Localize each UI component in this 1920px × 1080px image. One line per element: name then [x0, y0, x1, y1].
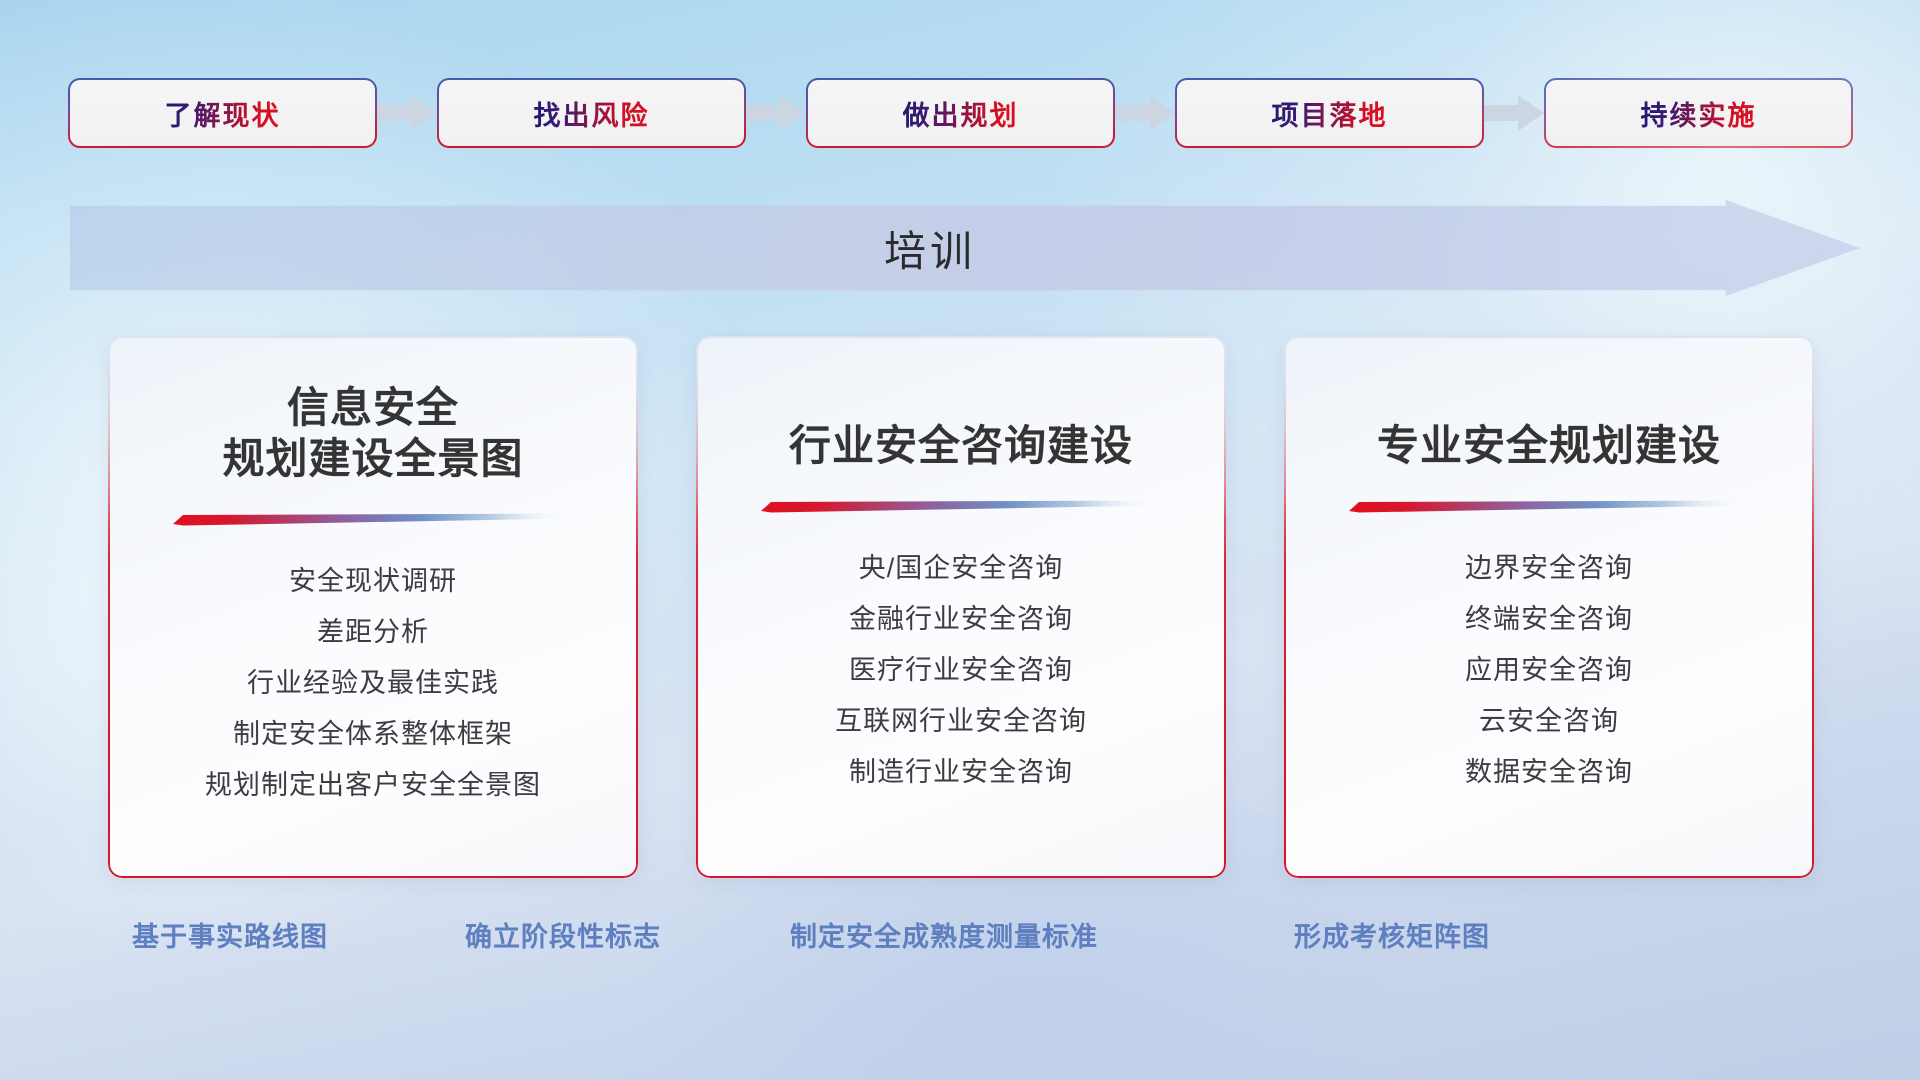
list-item: 金融行业安全咨询 [835, 594, 1087, 645]
right-arrow-icon [375, 94, 439, 132]
step-label: 做出规划 [903, 94, 1019, 133]
card-item-list: 央/国企安全咨询 金融行业安全咨询 医疗行业安全咨询 互联网行业安全咨询 制造行… [835, 543, 1087, 798]
card-row: 信息安全 规划建设全景图 安全现状调研 差距分析 行 [108, 336, 1814, 878]
step-label: 项目落地 [1272, 94, 1388, 133]
list-item: 数据安全咨询 [1465, 747, 1633, 798]
card-divider [761, 499, 1161, 513]
card-title: 信息安全 规划建设全景图 [222, 382, 523, 484]
training-banner: 培训 [70, 200, 1860, 296]
list-item: 制定安全体系整体框架 [205, 709, 541, 760]
card-3[interactable]: 专业安全规划建设 边界安全咨询 终端安全咨询 应用安 [1284, 336, 1814, 878]
banner-title: 培训 [70, 200, 1860, 296]
caption-row: 基于事实路线图 确立阶段性标志 制定安全成熟度测量标准 形成考核矩阵图 [0, 915, 1920, 963]
card-item-list: 安全现状调研 差距分析 行业经验及最佳实践 制定安全体系整体框架 规划制定出客户… [205, 556, 541, 811]
process-step-row: 了解现状 找出风险 做出规划 项目落地 持续实施 [70, 78, 1850, 148]
list-item: 央/国企安全咨询 [835, 543, 1087, 594]
right-arrow-icon [744, 94, 808, 132]
step-box-1[interactable]: 了解现状 [70, 80, 375, 146]
list-item: 制造行业安全咨询 [835, 747, 1087, 798]
step-box-3[interactable]: 做出规划 [808, 80, 1113, 146]
step-box-5[interactable]: 持续实施 [1546, 80, 1851, 146]
list-item: 边界安全咨询 [1465, 543, 1633, 594]
card-2[interactable]: 行业安全咨询建设 央/国企安全咨询 金融行业安全咨询 [696, 336, 1226, 878]
step-label: 找出风险 [534, 94, 650, 133]
list-item: 终端安全咨询 [1465, 594, 1633, 645]
list-item: 差距分析 [205, 607, 541, 658]
right-arrow-icon [1113, 94, 1177, 132]
step-box-2[interactable]: 找出风险 [439, 80, 744, 146]
caption-3: 形成考核矩阵图 [1294, 915, 1490, 954]
card-item-list: 边界安全咨询 终端安全咨询 应用安全咨询 云安全咨询 数据安全咨询 [1465, 543, 1633, 798]
list-item: 行业经验及最佳实践 [205, 658, 541, 709]
card-1[interactable]: 信息安全 规划建设全景图 安全现状调研 差距分析 行 [108, 336, 638, 878]
list-item: 规划制定出客户安全全景图 [205, 760, 541, 811]
right-arrow-icon [1482, 94, 1546, 132]
list-item: 安全现状调研 [205, 556, 541, 607]
caption-0: 基于事实路线图 [132, 915, 328, 954]
caption-2: 制定安全成熟度测量标准 [790, 915, 1098, 954]
step-box-4[interactable]: 项目落地 [1177, 80, 1482, 146]
list-item: 医疗行业安全咨询 [835, 645, 1087, 696]
caption-1: 确立阶段性标志 [465, 915, 661, 954]
card-title: 专业安全规划建设 [1377, 420, 1721, 471]
card-divider [1349, 499, 1749, 513]
card-title: 行业安全咨询建设 [789, 420, 1133, 471]
list-item: 云安全咨询 [1465, 696, 1633, 747]
card-divider [173, 512, 573, 526]
list-item: 互联网行业安全咨询 [835, 696, 1087, 747]
list-item: 应用安全咨询 [1465, 645, 1633, 696]
step-label: 持续实施 [1641, 94, 1757, 133]
step-label: 了解现状 [165, 94, 281, 133]
